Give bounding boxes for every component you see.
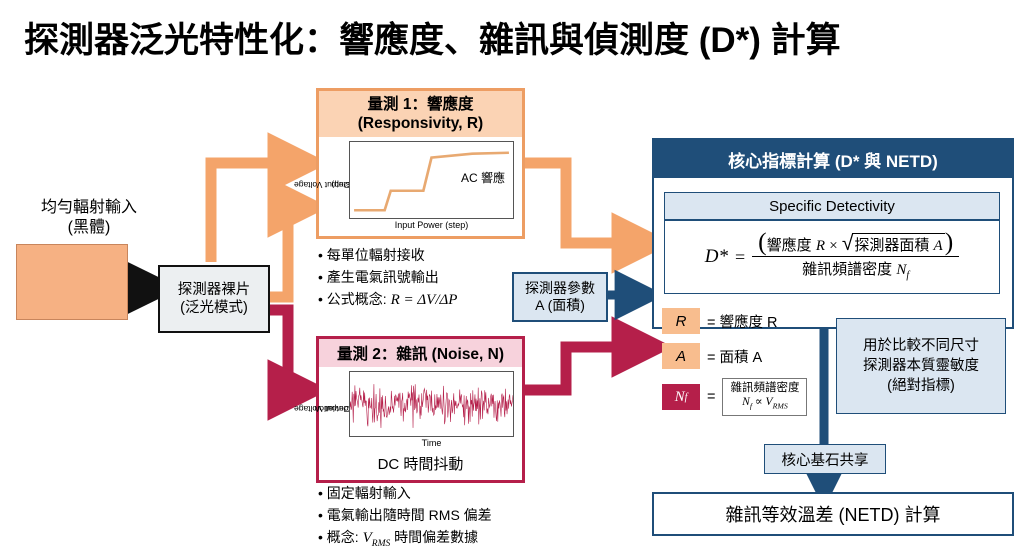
legend-chip-R: R bbox=[662, 308, 700, 334]
noise-formula-v: V bbox=[363, 530, 372, 546]
source-label-line2: (黑體) bbox=[4, 218, 174, 238]
nf-desc-prop: ∝ bbox=[752, 396, 766, 408]
arrow-responsivity-to-panel bbox=[521, 163, 640, 243]
source-label-line1: 均勻輻射輸入 bbox=[4, 198, 174, 218]
detector-line2: (泛光模式) bbox=[180, 299, 248, 317]
legend-row-Nf: Nf = 雜訊頻譜密度 Nf ∝ VRMS bbox=[662, 378, 842, 416]
detector-parameter-area-box[interactable]: 探測器參數 A (面積) bbox=[512, 272, 608, 322]
noise-formula-tail: 時間偏差數據 bbox=[390, 529, 478, 545]
noise-x-axis-label: Time bbox=[345, 438, 518, 451]
den-N: N bbox=[896, 262, 906, 278]
measurement2-header: 量測 2：雜訊 (Noise, N) bbox=[319, 339, 522, 367]
sqrt-text: 探測器面積 bbox=[854, 237, 929, 254]
noise-bullet-2: • 概念: VRMS 時間偏差數據 bbox=[318, 526, 568, 555]
blackbody-source-box bbox=[16, 244, 128, 320]
arrow-noise-to-panel bbox=[521, 347, 640, 390]
arrow-detector-to-responsivity-b bbox=[270, 207, 296, 297]
specific-detectivity-title: Specific Detectivity bbox=[664, 192, 1000, 220]
noise-caption: DC 時間抖動 bbox=[319, 451, 522, 475]
den-text: 雜訊頻譜密度 bbox=[802, 261, 892, 278]
resp-bullet-2-text: • 公式概念: bbox=[318, 291, 387, 307]
nf-desc-V-sub: RMS bbox=[773, 401, 788, 410]
legend-row-A: A = 面積 A bbox=[662, 343, 842, 369]
info-line-2: (絕對指標) bbox=[887, 376, 955, 396]
dstar-num-R: R bbox=[816, 238, 825, 254]
info-line-0: 用於比較不同尺寸 bbox=[863, 336, 979, 356]
dstar-num-text: 響應度 bbox=[767, 237, 812, 254]
legend-chip-Nf-sub: f bbox=[685, 392, 688, 403]
arrow-detector-to-responsivity-a bbox=[211, 163, 296, 262]
absolute-metric-info-box: 用於比較不同尺寸 探測器本質靈敏度 (絕對指標) bbox=[836, 318, 1006, 414]
sqrt-body: 探測器面積 A bbox=[852, 233, 944, 255]
responsivity-annotation: AC 響應 bbox=[461, 169, 505, 186]
core-metrics-header: 核心指標計算 (D* 與 NETD) bbox=[654, 140, 1012, 178]
nf-description-box: 雜訊頻譜密度 Nf ∝ VRMS bbox=[722, 378, 807, 416]
param-a-line1: 探測器參數 bbox=[525, 280, 595, 297]
dstar-equals: = bbox=[735, 247, 745, 268]
measurement-noise-box[interactable]: 量測 2：雜訊 (Noise, N) Output Voltage RMS de… bbox=[316, 336, 525, 483]
legend-text-R: = 響應度 R bbox=[707, 311, 778, 332]
den-N-sub: f bbox=[906, 270, 909, 281]
resp-formula: R = ΔV/ΔP bbox=[391, 292, 458, 308]
measurement-responsivity-box[interactable]: 量測 1：響應度 (Responsivity, R) Output Voltag… bbox=[316, 88, 525, 239]
paren-open: ( bbox=[758, 227, 767, 256]
noise-bullet-0: • 固定輻射輸入 bbox=[318, 482, 568, 504]
sqrt-A: A bbox=[934, 238, 943, 254]
noise-bullet-1: • 電氣輸出隨時間 RMS 偏差 bbox=[318, 504, 568, 526]
noise-trace bbox=[350, 384, 513, 428]
netd-box[interactable]: 雜訊等效溫差 (NETD) 計算 bbox=[652, 492, 1014, 536]
legend-chip-Nf: Nf bbox=[662, 384, 700, 410]
legend-row-R: R = 響應度 R bbox=[662, 308, 842, 334]
responsivity-y-axis-label: Output Voltage (step) bbox=[319, 137, 345, 233]
param-a-line2: A (面積) bbox=[535, 297, 585, 314]
arrow-detector-to-noise bbox=[270, 310, 296, 390]
legend-chip-A: A bbox=[662, 343, 700, 369]
noise-bullets: • 固定輻射輸入 • 電氣輸出隨時間 RMS 偏差 • 概念: VRMS 時間偏… bbox=[318, 482, 568, 555]
detector-die-box[interactable]: 探測器裸片 (泛光模式) bbox=[158, 265, 270, 333]
info-line-1: 探測器本質靈敏度 bbox=[863, 356, 979, 376]
page-title: 探測器泛光特性化：響應度、雜訊與偵測度 (D*) 計算 bbox=[24, 8, 1000, 66]
legend-text-A: = 面積 A bbox=[707, 346, 762, 367]
responsivity-x-axis-label: Input Power (step) bbox=[345, 220, 518, 233]
noise-formula-v-sub: RMS bbox=[372, 539, 391, 549]
dstar-times: × bbox=[829, 238, 837, 254]
noise-y-axis-label: Output Voltage RMS deviation bbox=[319, 367, 345, 451]
dstar-fraction: (響應度 R × √探測器面積 A) 雜訊頻譜密度 Nf bbox=[752, 233, 959, 281]
symbol-legend: R = 響應度 R A = 面積 A Nf = 雜訊頻譜密度 Nf ∝ VRMS bbox=[662, 308, 842, 425]
nf-desc-N: N bbox=[742, 396, 750, 408]
dstar-denominator: 雜訊頻譜密度 Nf bbox=[796, 257, 915, 281]
dstar-sqrt: √探測器面積 A bbox=[842, 233, 945, 255]
noise-chart: Output Voltage RMS deviation Time bbox=[319, 367, 522, 451]
cornerstone-shared-box: 核心基石共享 bbox=[764, 444, 886, 474]
dstar-formula-box: D* = (響應度 R × √探測器面積 A) 雜訊頻譜密度 Nf bbox=[664, 220, 1000, 294]
nf-desc-line1: 雜訊頻譜密度 bbox=[730, 381, 799, 395]
nf-desc-line2: Nf ∝ VRMS bbox=[730, 395, 799, 413]
source-label: 均勻輻射輸入 (黑體) bbox=[4, 198, 174, 238]
legend-text-Nf: = bbox=[707, 389, 715, 405]
dstar-numerator: (響應度 R × √探測器面積 A) bbox=[752, 233, 959, 257]
noise-bullet-2-text: • 概念: bbox=[318, 529, 359, 545]
responsivity-chart: Output Voltage (step) AC 響應 Input Power … bbox=[319, 137, 522, 233]
diagram-canvas: 探測器泛光特性化：響應度、雜訊與偵測度 (D*) 計算 bbox=[0, 0, 1024, 559]
detector-line1: 探測器裸片 bbox=[178, 281, 251, 299]
legend-chip-Nf-N: N bbox=[675, 389, 685, 406]
paren-close: ) bbox=[945, 227, 954, 256]
resp-bullet-0: • 每單位輻射接收 bbox=[318, 244, 548, 266]
nf-desc-V: V bbox=[766, 396, 773, 408]
measurement1-header-line1: 量測 1：響應度 bbox=[368, 95, 474, 114]
dstar-lhs: D* bbox=[705, 246, 728, 268]
measurement1-header-line2: (Responsivity, R) bbox=[358, 114, 483, 133]
noise-plot-area bbox=[349, 371, 514, 437]
measurement1-header: 量測 1：響應度 (Responsivity, R) bbox=[319, 91, 522, 137]
responsivity-plot-area: AC 響應 bbox=[349, 141, 514, 219]
